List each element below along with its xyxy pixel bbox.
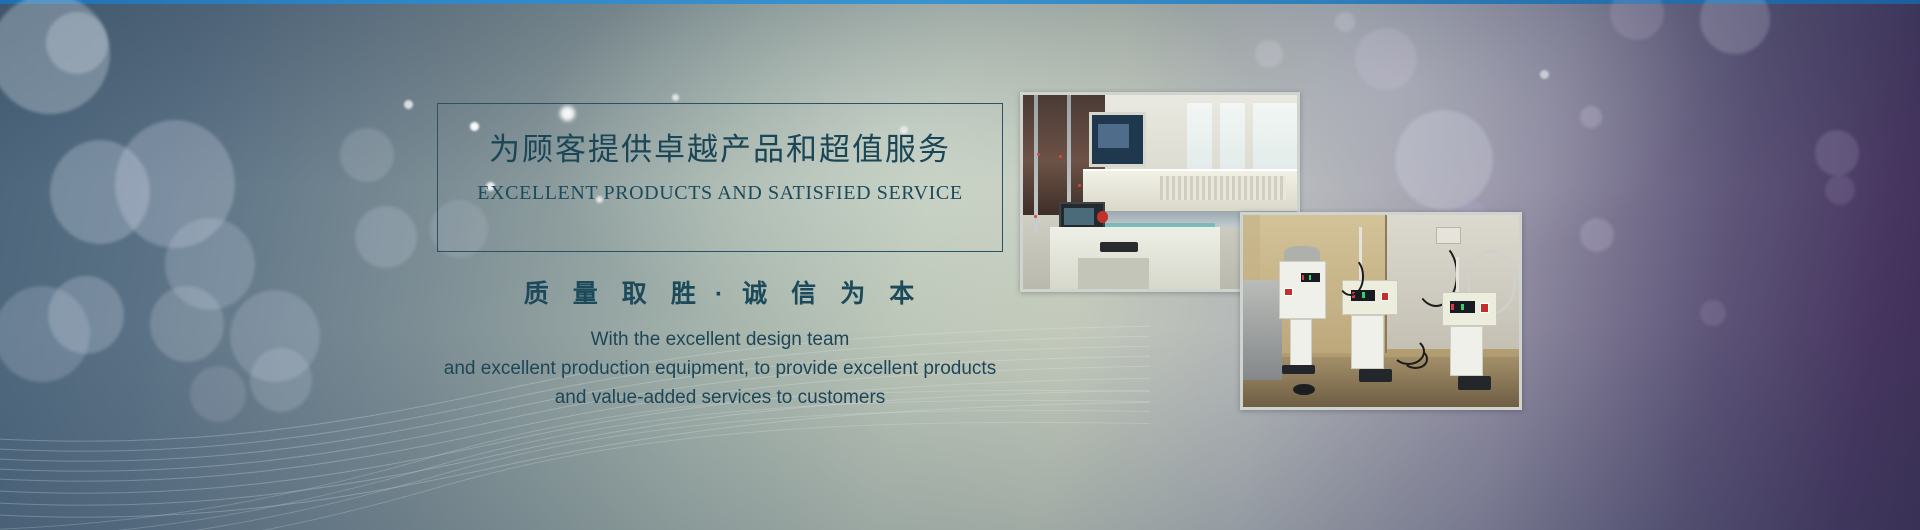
paragraph-line: With the excellent design team [330, 325, 1110, 354]
slogan-char: 量 [562, 280, 611, 308]
slogan-char: 胜 [660, 280, 709, 308]
description-paragraph: With the excellent design team and excel… [330, 325, 1110, 412]
slogan-char: 信 [780, 280, 829, 308]
headline-chinese: 为顾客提供卓越产品和超值服务 [437, 131, 1003, 168]
headline-english: EXCELLENT PRODUCTS AND SATISFIED SERVICE [437, 182, 1003, 205]
paragraph-line: and excellent production equipment, to p… [330, 354, 1110, 383]
headline-group: 为顾客提供卓越产品和超值服务 EXCELLENT PRODUCTS AND SA… [437, 103, 1003, 205]
slogan-line: 质量取胜·诚信为本 [437, 274, 1003, 310]
photo-workshop-press-machines [1240, 212, 1522, 410]
slogan-separator-dot: · [709, 280, 731, 308]
slogan-char: 本 [878, 280, 927, 308]
slogan-char: 为 [829, 280, 878, 308]
banner-stage: 为顾客提供卓越产品和超值服务 EXCELLENT PRODUCTS AND SA… [0, 0, 1920, 530]
top-accent-rule [0, 0, 1920, 4]
slogan-char: 质 [513, 280, 562, 308]
slogan-char: 取 [611, 280, 660, 308]
slogan-char: 诚 [731, 280, 780, 308]
paragraph-line: and value-added services to customers [330, 383, 1110, 412]
